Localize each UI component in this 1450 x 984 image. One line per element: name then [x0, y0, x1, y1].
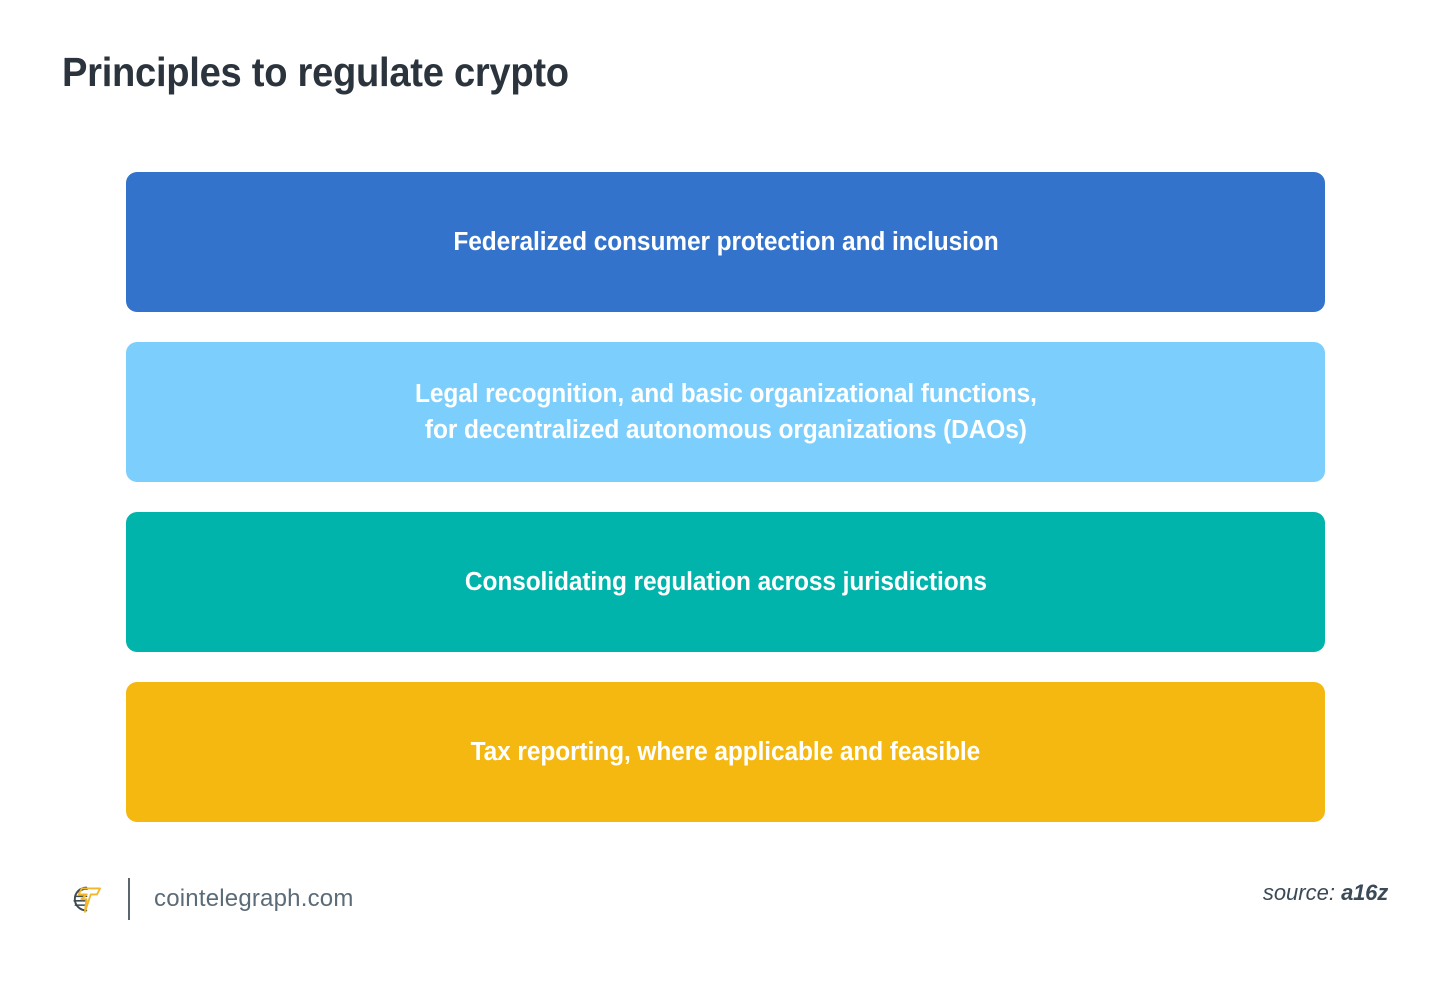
principle-label: Consolidating regulation across jurisdic…: [436, 564, 1016, 600]
principle-bar-consolidating-regulation: Consolidating regulation across jurisdic…: [126, 512, 1325, 652]
principle-label: Federalized consumer protection and incl…: [424, 224, 1027, 260]
principle-label-line: Federalized consumer protection and incl…: [453, 224, 998, 260]
cointelegraph-coin-stack-bolt-icon: [62, 877, 106, 921]
infographic-canvas: Principles to regulate crypto Federalize…: [0, 0, 1450, 984]
principle-label-line: for decentralized autonomous organizatio…: [415, 412, 1037, 448]
principle-bar-federalized-consumer-protection: Federalized consumer protection and incl…: [126, 172, 1325, 312]
principle-label: Tax reporting, where applicable and feas…: [442, 734, 1009, 770]
footer: cointelegraph.com source: a16z: [0, 868, 1450, 938]
brand-divider: [128, 878, 130, 920]
source-attribution: source: a16z: [1263, 882, 1388, 904]
brand-name[interactable]: cointelegraph.com: [154, 887, 354, 911]
source-value: a16z: [1341, 880, 1388, 905]
principle-bar-legal-recognition-daos: Legal recognition, and basic organizatio…: [126, 342, 1325, 482]
page-title: Principles to regulate crypto: [62, 48, 569, 96]
brand-block: cointelegraph.com: [62, 868, 354, 930]
source-label: source:: [1263, 880, 1335, 905]
principle-label-line: Tax reporting, where applicable and feas…: [471, 734, 981, 770]
principle-label: Legal recognition, and basic organizatio…: [386, 376, 1065, 448]
principles-list: Federalized consumer protection and incl…: [126, 172, 1325, 822]
principle-label-line: Consolidating regulation across jurisdic…: [464, 564, 986, 600]
principle-label-line: Legal recognition, and basic organizatio…: [415, 376, 1037, 412]
principle-bar-tax-reporting: Tax reporting, where applicable and feas…: [126, 682, 1325, 822]
